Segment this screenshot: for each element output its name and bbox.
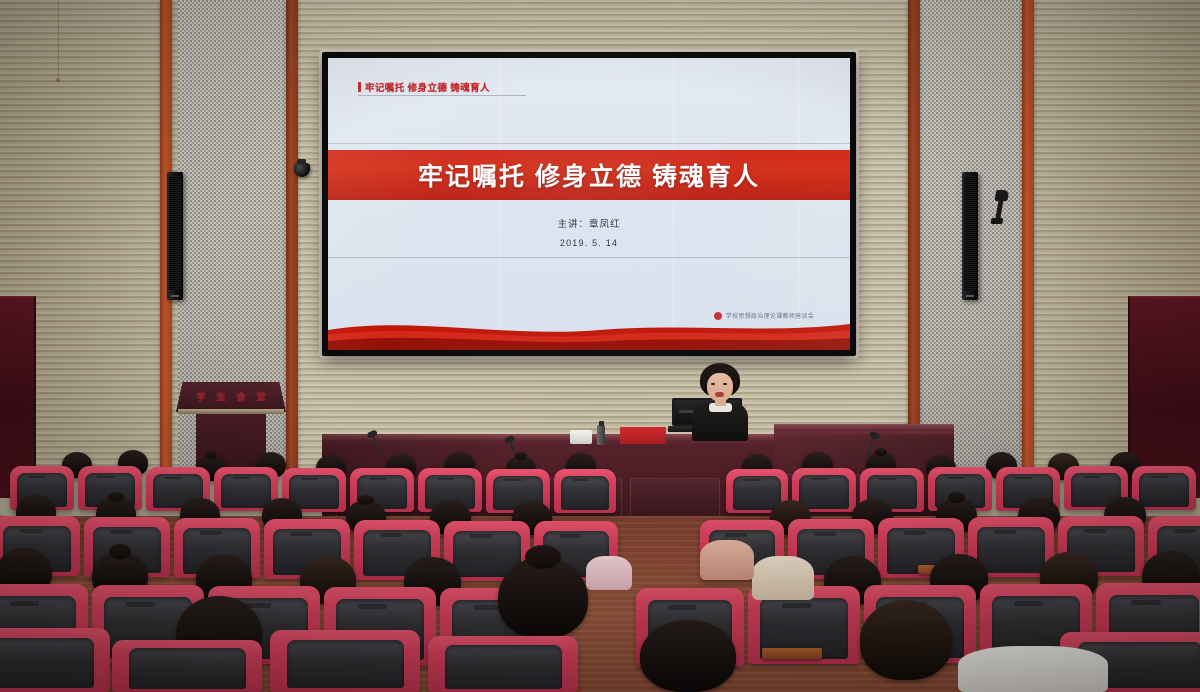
table-top-edge bbox=[774, 424, 954, 431]
auditorium-scene: 牢记嘱托 修身立德 铸魂育人 牢记嘱托 修身立德 铸魂育人 主讲：章凤红 201… bbox=[0, 0, 1200, 692]
slide-background bbox=[328, 58, 850, 350]
auditorium-seat[interactable] bbox=[270, 630, 420, 692]
panel-seam-v1 bbox=[500, 58, 501, 350]
speaker-logo bbox=[966, 295, 974, 297]
speaker-grille bbox=[169, 176, 181, 290]
header-tick-icon bbox=[358, 82, 361, 92]
presenter-mouth bbox=[715, 392, 724, 397]
lectern-char-2: 生 bbox=[216, 390, 225, 403]
slide-footer-text: 学校思想政治理论课教师座谈会 bbox=[726, 311, 814, 320]
panel-seam-h2 bbox=[328, 257, 850, 258]
audience-coat bbox=[958, 646, 1108, 692]
panel-seam-v2 bbox=[673, 58, 674, 350]
led-video-wall[interactable]: 牢记嘱托 修身立德 铸魂育人 牢记嘱托 修身立德 铸魂育人 主讲：章凤红 201… bbox=[322, 52, 856, 356]
slide-main-title: 牢记嘱托 修身立德 铸魂育人 bbox=[418, 157, 760, 193]
slide-date: 2019. 5. 14 bbox=[328, 238, 850, 248]
water-bottle bbox=[597, 425, 605, 445]
lectern-char-4: 堂 bbox=[257, 390, 266, 403]
audience-coat bbox=[752, 556, 814, 600]
auditorium-seat[interactable] bbox=[554, 469, 616, 513]
presenter-eye-right bbox=[723, 383, 727, 385]
slide-header-rule bbox=[358, 95, 526, 96]
slide-footer: 学校思想政治理论课教师座谈会 bbox=[714, 311, 814, 320]
wall-column-2 bbox=[286, 0, 298, 470]
lectern-char-1: 学 bbox=[196, 390, 205, 403]
slide-title-band: 牢记嘱托 修身立德 铸魂育人 bbox=[328, 150, 850, 200]
presenter-face bbox=[707, 373, 733, 402]
panel-seam-v3 bbox=[798, 58, 799, 350]
speaker-grille bbox=[964, 176, 976, 290]
auditorium-seat[interactable] bbox=[0, 628, 110, 692]
slide-header: 牢记嘱托 修身立德 铸魂育人 bbox=[358, 80, 490, 94]
slide-presenter: 主讲：章凤红 bbox=[328, 216, 850, 230]
footer-badge-icon bbox=[714, 312, 722, 320]
lectern-char-3: 会 bbox=[237, 390, 246, 403]
paper-cups bbox=[570, 430, 592, 444]
presenter-eye-left bbox=[711, 383, 715, 385]
wall-speaker-left-icon bbox=[167, 172, 183, 300]
audience-coat bbox=[586, 556, 632, 590]
red-desk-item bbox=[620, 427, 666, 444]
audience-coat bbox=[700, 540, 754, 580]
speaker-logo bbox=[171, 295, 179, 297]
seat-armrest bbox=[762, 648, 822, 659]
audience-head-foreground bbox=[498, 558, 588, 638]
auditorium-seat[interactable] bbox=[428, 636, 578, 692]
lectern-inscription: 学 生 会 堂 bbox=[176, 390, 286, 403]
wall-speaker-right-icon bbox=[962, 172, 978, 300]
hanging-wire bbox=[58, 0, 59, 78]
presenter-figure bbox=[690, 363, 750, 433]
presentation-slide: 牢记嘱托 修身立德 铸魂育人 牢记嘱托 修身立德 铸魂育人 主讲：章凤红 201… bbox=[328, 58, 850, 350]
slide-header-text: 牢记嘱托 修身立德 铸魂育人 bbox=[365, 80, 490, 94]
wall-column-3 bbox=[908, 0, 920, 470]
panel-seam-h1 bbox=[328, 143, 850, 144]
auditorium-seat[interactable] bbox=[112, 640, 262, 692]
audience-head-foreground bbox=[640, 620, 736, 692]
audience-head-foreground bbox=[860, 600, 952, 680]
wall-column-4 bbox=[1022, 0, 1034, 470]
